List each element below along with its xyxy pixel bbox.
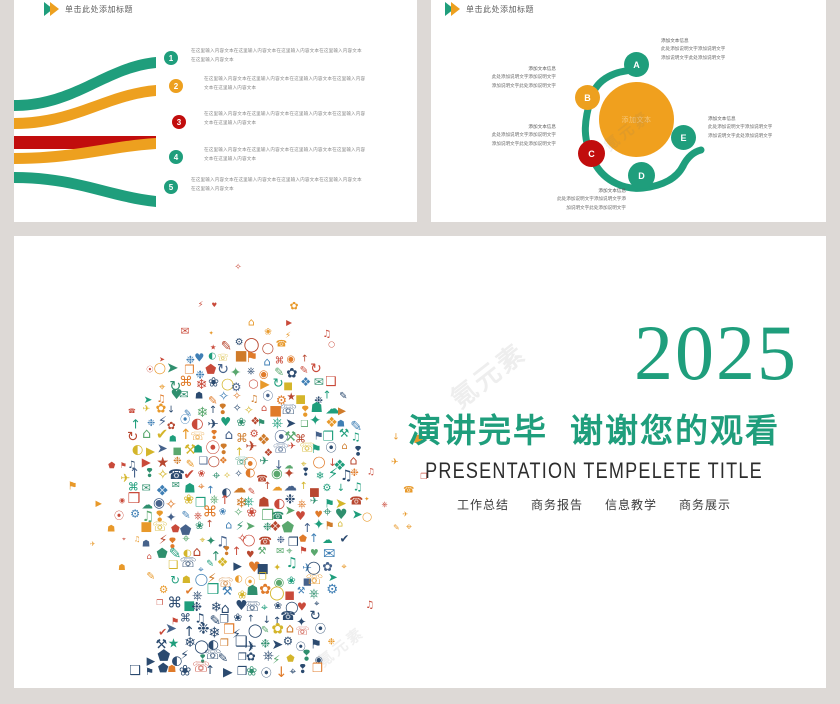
mosaic-icon: ❀ [246, 666, 257, 679]
mosaic-icon: ▶ [260, 378, 269, 390]
mosaic-icon: ✈ [259, 455, 268, 466]
mosaic-icon: ✉ [181, 326, 190, 337]
cn-title-right: 谢谢您的观看 [570, 412, 780, 449]
mosaic-icon: ☗ [142, 539, 150, 548]
mosaic-icon: ⦿ [315, 623, 326, 634]
mosaic-icon: ↑ [322, 389, 331, 400]
mosaic-icon: ✉ [314, 376, 324, 388]
mosaic-icon: ❀ [287, 576, 296, 587]
mosaic-icon: ✦ [309, 414, 321, 428]
mosaic-icon: ♫ [365, 601, 374, 611]
mosaic-icon: ↓ [337, 484, 345, 494]
mosaic-icon: ☗ [167, 665, 176, 675]
mosaic-icon: ⚒ [339, 428, 349, 440]
mosaic-icon: ⌂ [225, 429, 234, 443]
mosaic-icon: ☏ [306, 573, 324, 587]
mosaic-icon: ✧ [233, 403, 242, 414]
mosaic-icon: ☏ [190, 431, 205, 443]
mosaic-icon: ✎ [206, 559, 214, 568]
mosaic-icon: ⌂ [248, 317, 255, 328]
mosaic-icon: ⚡ [198, 300, 204, 308]
mosaic-icon: ✿ [167, 421, 176, 431]
mosaic-icon: ❑ [300, 421, 308, 430]
mosaic-icon: ✎ [146, 572, 155, 583]
mosaic-icon: ❖ [300, 376, 311, 388]
mosaic-icon: ◉ [286, 355, 295, 365]
mosaic-icon: ◯ [243, 534, 256, 546]
mosaic-icon: ☁ [272, 483, 283, 494]
mosaic-icon: ⚑ [67, 481, 77, 492]
process-node-a[interactable]: A [624, 52, 649, 77]
mosaic-icon: ❀ [236, 417, 246, 429]
mosaic-icon: ❒ [207, 583, 220, 597]
mosaic-icon: ☎ [349, 496, 363, 507]
mosaic-icon: ↑ [263, 482, 271, 492]
callout-c-line1: 此处添加说明文字添加说明文字 [451, 131, 556, 139]
mosaic-icon: ❑ [199, 456, 208, 467]
mosaic-icon: ❑ [325, 376, 336, 389]
mosaic-icon: ❑ [168, 559, 178, 570]
mosaic-icon: ♥ [194, 352, 204, 363]
mosaic-icon: ➤ [166, 362, 178, 377]
mosaic-icon: ⚑ [145, 668, 154, 678]
mosaic-icon: ⬟ [205, 363, 216, 376]
slide-thumbnail-1[interactable]: 单击此处添加标题 1 在这里输入内容文本在这里输入内容文本在这里输入内容文本在这… [14, 0, 417, 222]
mosaic-icon: ⚙ [235, 338, 244, 348]
mosaic-icon: ✧ [223, 471, 231, 480]
mosaic-icon: ⌂ [342, 442, 348, 452]
mosaic-icon: ✧ [232, 391, 241, 402]
mosaic-icon: ⦿ [146, 365, 153, 372]
callout-c-heading: 添加文本信息 [451, 123, 556, 131]
mosaic-icon: ✈ [288, 442, 296, 452]
mosaic-icon: ✿ [290, 302, 299, 313]
title-block: 2025 演讲完毕谢谢您的观看 PRESENTATION TEMPELETE T… [384, 316, 804, 513]
mosaic-icon: ❉ [277, 536, 285, 546]
mosaic-icon: ⦿ [326, 443, 337, 454]
mosaic-icon: ❀ [198, 469, 206, 478]
mosaic-icon: ⬟ [299, 534, 307, 543]
mosaic-icon: ⌖ [122, 535, 126, 542]
callout-a: 添加文本信息 此处添加说明文字添加说明文字 添加说明文字此处添加说明文字 [661, 37, 766, 62]
year-heading: 2025 [384, 316, 804, 390]
mosaic-icon: ✎ [181, 510, 190, 521]
mosaic-icon: ⌂ [349, 455, 357, 468]
mosaic-icon: ▶ [147, 656, 156, 667]
mosaic-icon: ■ [140, 521, 152, 534]
process-node-c[interactable]: C [578, 140, 605, 167]
tag-item: 信息教学 [605, 496, 657, 513]
mosaic-icon: ✈ [245, 440, 257, 454]
center-bubble[interactable]: 添加文本 [599, 82, 674, 157]
mosaic-icon: ❉ [173, 457, 181, 467]
mosaic-icon: ↑ [309, 533, 319, 545]
mosaic-icon: ⚑ [120, 462, 127, 470]
mosaic-icon: ✈ [90, 540, 95, 547]
en-title: PRESENTATION TEMPELETE TITLE [422, 458, 766, 484]
mosaic-icon: ♥ [211, 303, 217, 309]
mosaic-icon: ⚡ [236, 520, 245, 532]
mosaic-icon: ☏ [180, 557, 197, 571]
double-chevron-icon [445, 2, 460, 16]
mosaic-icon: ✧ [234, 469, 243, 479]
mosaic-icon: ▶ [338, 406, 346, 416]
mosaic-icon: ◯ [313, 457, 326, 469]
callout-d-heading: 添加文本信息 [516, 187, 626, 195]
mosaic-icon: ⦿ [114, 512, 124, 522]
mosaic-icon: ✔ [183, 468, 195, 482]
mosaic-icon: ❒ [312, 662, 323, 674]
mosaic-icon: ❀ [219, 508, 227, 517]
mosaic-icon: ✔ [340, 533, 350, 545]
mosaic-icon: ↓ [167, 405, 175, 414]
mosaic-icon: ♫ [351, 432, 361, 443]
slide1-header: 单击此处添加标题 [44, 2, 133, 16]
mosaic-icon: ❖ [219, 456, 227, 465]
mosaic-icon: ⬟ [286, 655, 294, 665]
mosaic-icon: ↑ [220, 494, 230, 506]
mosaic-icon: ⌂ [147, 552, 152, 560]
mosaic-icon: ✦ [364, 497, 369, 503]
mosaic-icon: ❉ [350, 468, 359, 478]
icon-mosaic-head-silhouette: ✧⚡♥✿⌂▶✉✦❀⚡♫★✎⚙◯◯☎◯➤❉♥◐☏■⚑⌂⌘◉↑⦿◯➤❒❉⬟↻✦⎈◉✎… [14, 236, 444, 688]
mosaic-icon: ❀ [179, 663, 191, 678]
slide1-rows: 1 在这里输入内容文本在这里输入内容文本在这里输入内容文本在这里输入内容文本在这… [14, 28, 417, 213]
mosaic-icon: ✦ [209, 331, 214, 337]
mosaic-icon: ◯ [248, 380, 258, 389]
mosaic-icon: ⚙ [326, 583, 338, 596]
mosaic-icon: ✎ [218, 652, 228, 664]
mosaic-icon: ⚑ [245, 351, 258, 366]
mosaic-icon: ⚑ [299, 546, 308, 556]
mosaic-icon: ✿ [156, 403, 167, 416]
mosaic-icon: ❢ [298, 663, 308, 675]
mosaic-icon: ✈ [143, 405, 151, 414]
mosaic-icon: ♥ [297, 601, 307, 612]
process-node-b[interactable]: B [575, 85, 600, 110]
row-number-badge: 2 [169, 79, 183, 93]
callout-b-heading: 添加文本信息 [451, 65, 556, 73]
mosaic-icon: ▶ [233, 561, 241, 572]
mosaic-icon: ❖ [257, 432, 270, 447]
mosaic-icon: ✧ [234, 507, 244, 519]
mosaic-icon: ✎ [339, 392, 347, 402]
mosaic-icon: ➤ [165, 622, 177, 636]
process-node-e[interactable]: E [671, 125, 696, 150]
mosaic-icon: ↑ [129, 467, 140, 480]
slide-gallery: 单击此处添加标题 1 在这里输入内容文本在这里输入内容文本在这里输入内容文本在这… [0, 0, 840, 704]
row-text: 在这里输入内容文本在这里输入内容文本在这里输入内容文本在这里输入内容文本在这里输… [204, 110, 367, 127]
mosaic-icon: ☗ [107, 524, 115, 533]
row-text: 在这里输入内容文本在这里输入内容文本在这里输入内容文本在这里输入内容文本在这里输… [191, 47, 364, 64]
mosaic-icon: ⌖ [182, 533, 189, 546]
mosaic-icon: ⬟ [171, 525, 180, 535]
mosaic-icon: ◐ [273, 497, 285, 510]
mosaic-icon: ❢ [145, 467, 155, 479]
cn-title: 演讲完毕谢谢您的观看 [384, 404, 804, 452]
mosaic-icon: ◯ [208, 456, 220, 467]
tag-row: 工作总结 商务报告 信息教学 商务展示 [384, 496, 804, 513]
mosaic-icon: ♫ [367, 468, 375, 477]
slide-thumbnail-3[interactable]: ✧⚡♥✿⌂▶✉✦❀⚡♫★✎⚙◯◯☎◯➤❉♥◐☏■⚑⌂⌘◉↑⦿◯➤❒❉⬟↻✦⎈◉✎… [14, 236, 826, 688]
callout-e-heading: 添加文本信息 [708, 115, 813, 123]
mosaic-icon: ⚙ [159, 585, 168, 596]
callout-d-line2: 加说明文字此处添加说明文字 [516, 204, 626, 212]
mosaic-icon: ♫ [286, 557, 298, 571]
callout-a-line1: 此处添加说明文字添加说明文字 [661, 45, 766, 53]
mosaic-icon: ▶ [223, 666, 233, 679]
callout-a-line2: 添加说明文字此处添加说明文字 [661, 54, 766, 62]
mosaic-icon: ❒ [258, 572, 266, 581]
mosaic-icon: ✦ [206, 535, 216, 547]
mosaic-icon: ✦ [313, 517, 325, 531]
mosaic-icon: ⬟ [156, 549, 167, 562]
mosaic-icon: ✎ [221, 340, 232, 353]
mosaic-icon: ♫ [353, 481, 363, 492]
mosaic-icon: ➤ [245, 519, 255, 531]
row-number-badge: 1 [164, 51, 178, 65]
mosaic-icon: ↑ [299, 482, 307, 492]
mosaic-icon: ✉ [276, 547, 284, 557]
mosaic-icon: ◉ [119, 497, 125, 504]
double-chevron-icon [44, 2, 59, 16]
mosaic-icon: ♫ [322, 330, 331, 340]
callout-b-line1: 此处添加说明文字添加说明文字 [451, 73, 556, 81]
mosaic-icon: ▶ [96, 499, 102, 507]
mosaic-icon: ⚙ [130, 508, 140, 519]
mosaic-icon: ⌂ [142, 427, 151, 441]
mosaic-icon: ◉ [271, 467, 283, 481]
mosaic-icon: ☎ [128, 409, 136, 415]
mosaic-icon: ❀ [195, 521, 204, 531]
mosaic-icon: ⌖ [198, 479, 205, 491]
slide2-header: 单击此处添加标题 [445, 2, 534, 16]
process-node-d[interactable]: D [628, 162, 655, 189]
mosaic-icon: ⬟ [108, 460, 115, 468]
mosaic-icon: ◐ [208, 352, 216, 361]
mosaic-icon: ✉ [142, 482, 151, 493]
slide2-title: 单击此处添加标题 [466, 4, 534, 15]
callout-d-line1: 此处添加说明文字添加说明文字添 [516, 195, 626, 203]
tag-item: 商务展示 [679, 496, 731, 513]
mosaic-icon: ⚙ [283, 636, 293, 648]
callout-c-line2: 添加说明文字此处添加说明文字 [451, 140, 556, 148]
mosaic-icon: ⚑ [311, 443, 322, 455]
mosaic-icon: ☏ [296, 626, 310, 637]
mosaic-icon: ✉ [172, 481, 180, 491]
mosaic-icon: ➤ [352, 509, 363, 522]
mosaic-icon: ◯ [262, 344, 274, 355]
mosaic-icon: ⎈ [247, 367, 255, 377]
mosaic-icon: ☗ [195, 392, 203, 401]
mosaic-icon: ☗ [118, 563, 126, 571]
mosaic-icon: ☗ [193, 444, 203, 455]
callout-d: 添加文本信息 此处添加说明文字添加说明文字添 加说明文字此处添加说明文字 [516, 187, 626, 212]
circular-process-diagram: A B C D E 添加文本 添加文本信息 此处添加说明文字添加说明文字 添加说… [431, 20, 826, 220]
mosaic-icon: ❖ [217, 558, 229, 571]
callout-b: 添加文本信息 此处添加说明文字添加说明文字 添加说明文字此处添加说明文字 [451, 65, 556, 90]
mosaic-icon: ◐ [245, 467, 255, 479]
mosaic-icon: ⌖ [159, 381, 165, 393]
mosaic-icon: ❀ [264, 329, 272, 338]
mosaic-icon: ◯ [362, 514, 372, 523]
mosaic-icon: ✔ [156, 428, 168, 443]
mosaic-icon: ❀ [183, 494, 194, 507]
mosaic-icon: ☎ [276, 341, 287, 350]
mosaic-icon: ♥ [246, 550, 254, 559]
mosaic-icon: ✎ [261, 626, 269, 636]
mosaic-icon: ❉ [328, 639, 335, 648]
mosaic-icon: ⚒ [297, 586, 305, 595]
mosaic-icon: ↑ [205, 664, 215, 676]
mosaic-icon: ✎ [393, 525, 400, 533]
mosaic-icon: ↻ [272, 377, 283, 390]
mosaic-icon: ❄ [316, 472, 324, 482]
tag-item: 商务报告 [531, 496, 583, 513]
mosaic-icon: ↑ [247, 614, 255, 623]
mosaic-icon: ◯ [328, 342, 335, 348]
row-number-badge: 4 [169, 150, 183, 164]
mosaic-icon: ✦ [273, 563, 281, 573]
mosaic-icon: ★ [210, 343, 216, 350]
mosaic-icon: ⌖ [261, 601, 268, 613]
mosaic-icon: ❀ [208, 376, 219, 389]
slide-thumbnail-2[interactable]: 单击此处添加标题 A B C D E 添加文本 添加文本信息 此处添加说明文字添… [431, 0, 826, 222]
mosaic-icon: ⚒ [222, 585, 233, 597]
row-number-badge: 3 [172, 115, 186, 129]
mosaic-icon: ✿ [286, 367, 297, 380]
mosaic-icon: ✧ [235, 264, 242, 273]
mosaic-icon: ▶ [286, 319, 292, 327]
mosaic-icon: ↓ [275, 666, 287, 681]
mosaic-icon: ⌘ [180, 612, 191, 623]
mosaic-icon: ↑ [301, 355, 309, 364]
row-text: 在这里输入内容文本在这里输入内容文本在这里输入内容文本在这里输入内容文本在这里输… [204, 146, 367, 163]
mosaic-icon: ⚒ [258, 547, 267, 557]
mosaic-icon: ⌘ [167, 597, 182, 612]
mosaic-icon: ⦿ [180, 416, 190, 426]
mosaic-icon: ⌘ [275, 356, 285, 366]
mosaic-icon: ❑ [129, 664, 141, 677]
mosaic-icon: ✈ [310, 497, 319, 507]
mosaic-icon: ◯ [269, 587, 284, 601]
mosaic-icon: ⌂ [225, 520, 232, 531]
mosaic-icon: ⦿ [261, 669, 272, 680]
mosaic-icon: ⚡ [180, 649, 189, 661]
callout-e-line1: 此处添加说明文字添加说明文字 [708, 123, 813, 131]
mosaic-icon: ❒ [156, 599, 163, 607]
mosaic-icon: ◐ [235, 574, 243, 584]
mosaic-icon: ⌂ [261, 404, 267, 414]
mosaic-icon: ↑ [232, 546, 242, 558]
slide1-title: 单击此处添加标题 [65, 4, 133, 15]
mosaic-icon: ❖ [269, 521, 281, 535]
mosaic-icon: ⌖ [212, 469, 220, 483]
mosaic-icon: ⦿ [262, 392, 273, 403]
callout-a-heading: 添加文本信息 [661, 37, 766, 45]
callout-e-line2: 添加说明文字此处添加说明文字 [708, 132, 813, 140]
mosaic-icon: ☏ [273, 444, 289, 457]
callout-e: 添加文本信息 此处添加说明文字添加说明文字 添加说明文字此处添加说明文字 [708, 115, 813, 140]
mosaic-icon: ♥ [310, 549, 319, 559]
mosaic-icon: ⌖ [342, 563, 347, 572]
row-text: 在这里输入内容文本在这里输入内容文本在这里输入内容文本在这里输入内容文本在这里输… [204, 75, 367, 92]
mosaic-icon: ⚡ [285, 331, 291, 340]
row-number-badge: 5 [164, 180, 178, 194]
mosaic-icon: ♫ [134, 536, 141, 543]
mosaic-icon: ⌖ [290, 667, 297, 679]
mosaic-icon: ❀ [233, 613, 242, 624]
row-text: 在这里输入内容文本在这里输入内容文本在这里输入内容文本在这里输入内容文本在这里输… [191, 176, 364, 193]
tag-item: 工作总结 [457, 496, 509, 513]
mosaic-icon: ☗ [169, 436, 177, 445]
mosaic-icon: ◯ [154, 363, 166, 374]
mosaic-icon: ⬟ [282, 520, 295, 535]
mosaic-icon: ❒ [128, 492, 141, 506]
mosaic-icon: ↑ [205, 520, 213, 530]
cn-title-left: 演讲完毕 [408, 412, 548, 449]
mosaic-icon: ⌖ [406, 521, 412, 532]
mosaic-icon: ✿ [246, 652, 256, 663]
mosaic-icon: ⚑ [324, 520, 334, 531]
mosaic-icon: ☗ [246, 584, 259, 598]
mosaic-icon: ⚙ [322, 484, 331, 494]
callout-c: 添加文本信息 此处添加说明文字添加说明文字 添加说明文字此处添加说明文字 [451, 123, 556, 148]
mosaic-icon: ➤ [285, 506, 296, 519]
mosaic-icon: ✧ [157, 469, 169, 483]
mosaic-icon: ↻ [170, 575, 180, 587]
mosaic-icon: ■ [284, 589, 294, 600]
mosaic-icon: ⌂ [337, 521, 343, 530]
mosaic-icon: ❢ [209, 429, 219, 441]
mosaic-icon: ⚡ [328, 467, 339, 482]
mosaic-icon: ❢ [301, 467, 310, 478]
callout-b-line2: 添加说明文字此处添加说明文字 [451, 82, 556, 90]
mosaic-icon: ✉ [179, 389, 189, 400]
